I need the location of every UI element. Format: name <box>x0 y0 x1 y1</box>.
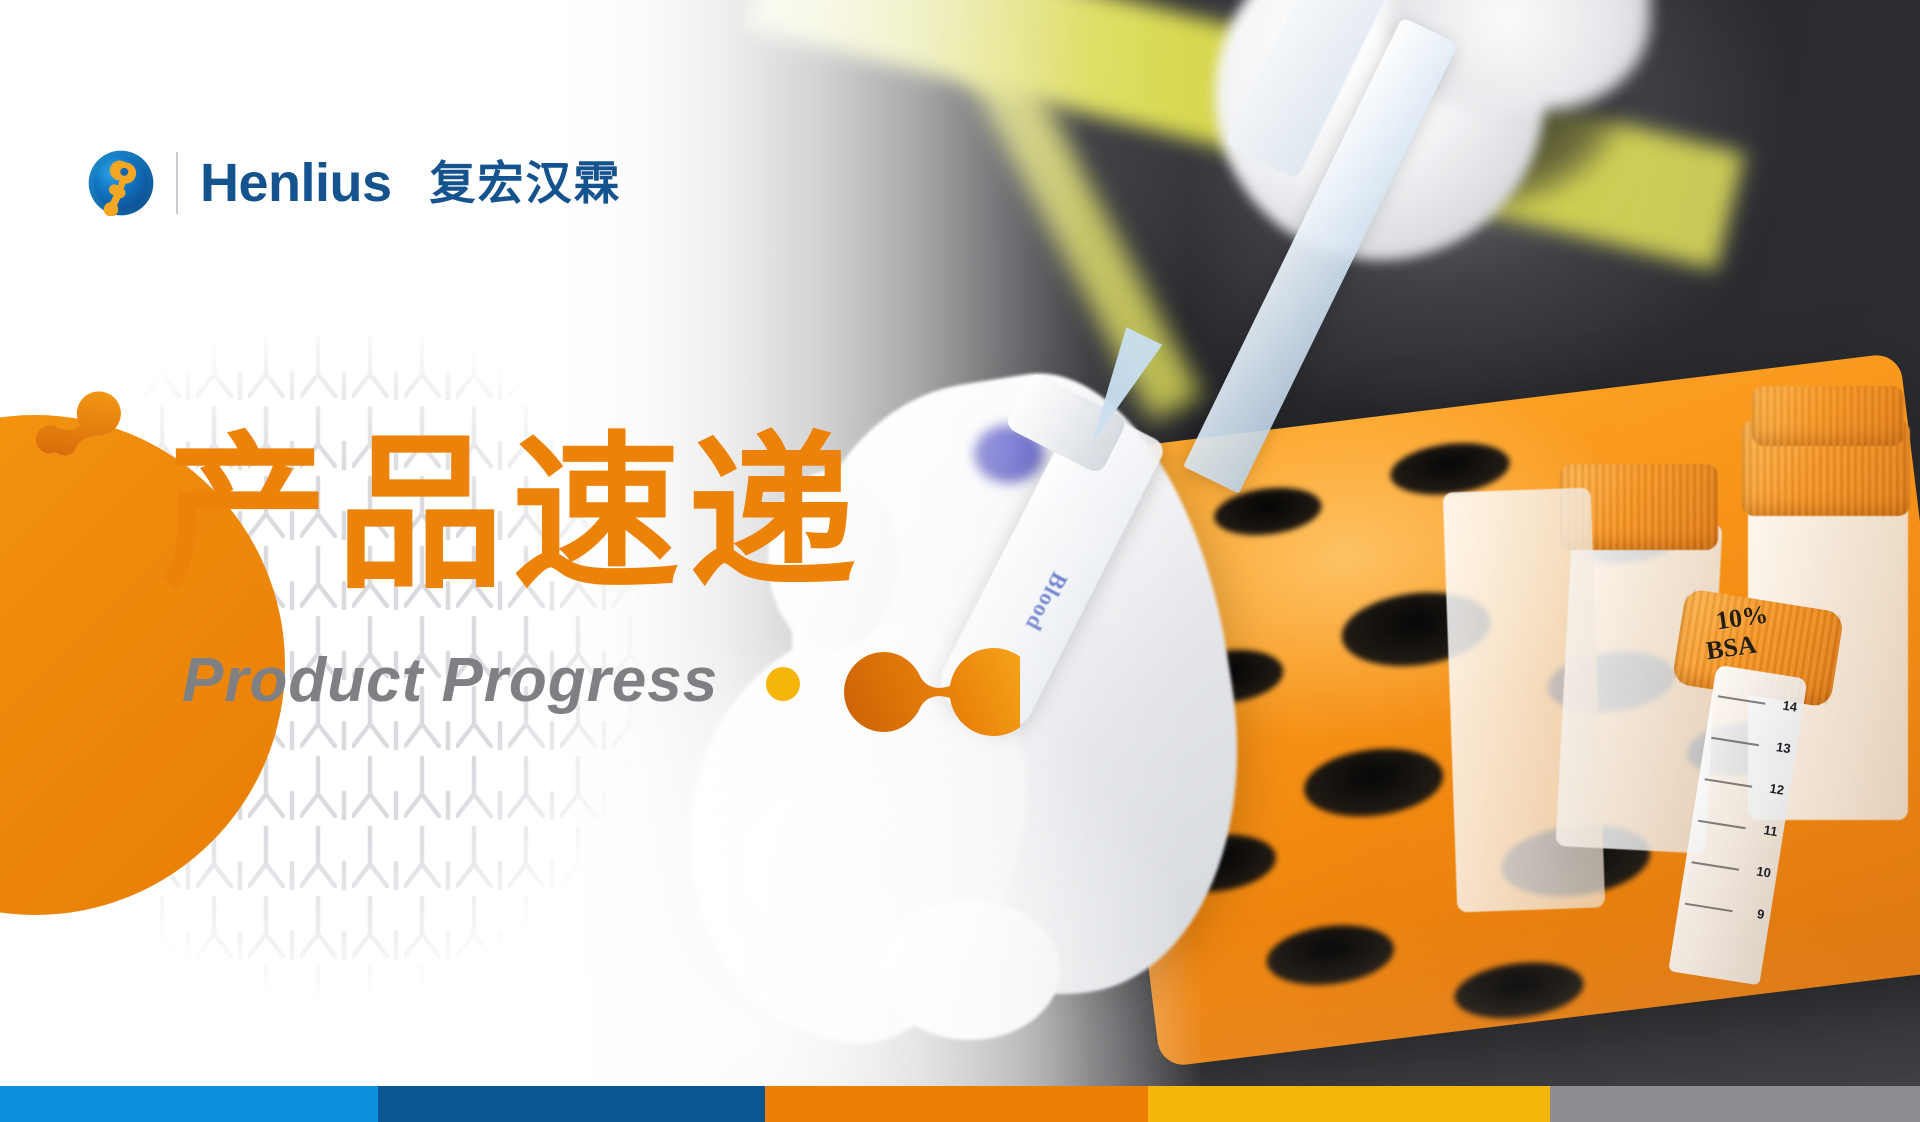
slide-subtitle-en: Product Progress <box>182 650 718 712</box>
presentation-slide: Blood 10% BSA 14 <box>0 0 1920 1122</box>
bottom-bar-segment-gray <box>1550 1086 1920 1122</box>
bottom-bar-segment-yellow <box>1148 1086 1550 1122</box>
specimen-tube-3-clear <box>1450 490 1600 910</box>
bottom-color-bar <box>0 1086 1920 1122</box>
brand-logo[interactable]: Henlius 复宏汉霖 <box>88 150 622 216</box>
decor-yellow-dot <box>766 667 800 701</box>
slide-title-cn: 产品速递 <box>160 430 864 598</box>
bottom-bar-segment-orange <box>765 1086 1148 1122</box>
henlius-logo-icon <box>88 150 154 216</box>
bottom-bar-segment-light-blue <box>0 1086 378 1122</box>
logo-wordmark-cn: 复宏汉霖 <box>430 160 622 206</box>
logo-wordmark: Henlius <box>200 156 392 210</box>
molecule-dumbbell-icon-large <box>840 640 1020 750</box>
logo-divider <box>176 152 178 214</box>
molecule-dumbbell-icon-small <box>30 375 150 465</box>
bottom-bar-segment-dark-blue <box>378 1086 765 1122</box>
